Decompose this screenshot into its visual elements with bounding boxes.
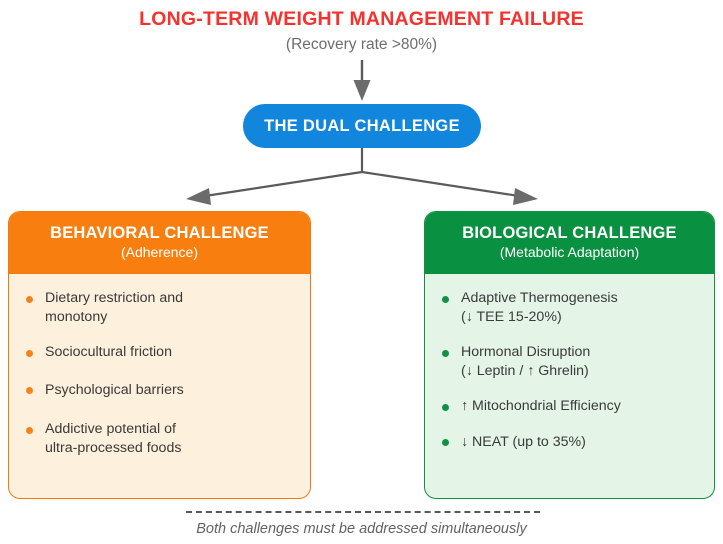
arrow-down-icon bbox=[354, 60, 371, 101]
arrow-branch-left-icon bbox=[186, 172, 362, 205]
behavioral-bullet-list: Dietary restriction and monotony Sociocu… bbox=[23, 290, 296, 457]
list-item: Adaptive Thermogenesis (↓ TEE 15-20%) bbox=[439, 290, 700, 326]
list-item: Hormonal Disruption (↓ Leptin / ↑ Ghreli… bbox=[439, 344, 700, 380]
page-subtitle: (Recovery rate >80%) bbox=[0, 36, 723, 54]
behavioral-card-subtitle: (Adherence) bbox=[121, 243, 198, 262]
list-item-line2: (↓ TEE 15-20%) bbox=[461, 308, 700, 326]
bullet-dot-icon bbox=[26, 427, 33, 434]
bullet-dot-icon bbox=[26, 296, 33, 303]
biological-card-body: Adaptive Thermogenesis (↓ TEE 15-20%) Ho… bbox=[425, 274, 714, 451]
bullet-dot-icon bbox=[442, 439, 449, 446]
biological-card-subtitle: (Metabolic Adaptation) bbox=[500, 243, 639, 262]
behavioral-card-title: BEHAVIORAL CHALLENGE bbox=[50, 224, 269, 242]
diagram-canvas: LONG-TERM WEIGHT MANAGEMENT FAILURE (Rec… bbox=[0, 0, 723, 544]
biological-card-header: BIOLOGICAL CHALLENGE (Metabolic Adaptati… bbox=[425, 212, 714, 274]
list-item: ↓ NEAT (up to 35%) bbox=[439, 434, 700, 452]
list-item-line1: Hormonal Disruption bbox=[461, 344, 590, 360]
list-item: Dietary restriction and monotony bbox=[23, 290, 296, 326]
bullet-dot-icon bbox=[26, 387, 33, 394]
biological-card-title: BIOLOGICAL CHALLENGE bbox=[462, 224, 677, 242]
list-item: Addictive potential of ultra-processed f… bbox=[23, 421, 296, 457]
list-item: ↑ Mitochondrial Efficiency bbox=[439, 398, 700, 416]
footer-divider bbox=[186, 511, 540, 513]
list-item-line1: Psychological barriers bbox=[45, 382, 184, 398]
list-item-line1: Sociocultural friction bbox=[45, 344, 172, 360]
list-item-line1: Adaptive Thermogenesis bbox=[461, 290, 618, 306]
biological-challenge-card[interactable]: BIOLOGICAL CHALLENGE (Metabolic Adaptati… bbox=[424, 211, 715, 499]
page-title: LONG-TERM WEIGHT MANAGEMENT FAILURE bbox=[0, 8, 723, 31]
list-item-line2: ultra-processed foods bbox=[45, 439, 296, 457]
bullet-dot-icon bbox=[26, 350, 33, 357]
list-item-line1: ↓ NEAT (up to 35%) bbox=[461, 434, 586, 450]
list-item-line1: ↑ Mitochondrial Efficiency bbox=[461, 398, 621, 414]
behavioral-card-header: BEHAVIORAL CHALLENGE (Adherence) bbox=[9, 212, 310, 274]
dual-challenge-node[interactable]: THE DUAL CHALLENGE bbox=[243, 104, 481, 148]
behavioral-card-body: Dietary restriction and monotony Sociocu… bbox=[9, 274, 310, 457]
list-item: Sociocultural friction bbox=[23, 344, 296, 362]
dual-challenge-label: THE DUAL CHALLENGE bbox=[264, 117, 460, 136]
behavioral-challenge-card[interactable]: BEHAVIORAL CHALLENGE (Adherence) Dietary… bbox=[8, 211, 311, 499]
list-item-line2: monotony bbox=[45, 308, 296, 326]
list-item: Psychological barriers bbox=[23, 382, 296, 400]
footer-note: Both challenges must be addressed simult… bbox=[0, 521, 723, 537]
list-item-line1: Addictive potential of bbox=[45, 421, 176, 437]
bullet-dot-icon bbox=[442, 296, 449, 303]
bullet-dot-icon bbox=[442, 350, 449, 357]
arrow-branch-right-icon bbox=[362, 172, 538, 205]
list-item-line1: Dietary restriction and bbox=[45, 290, 183, 306]
bullet-dot-icon bbox=[442, 404, 449, 411]
biological-bullet-list: Adaptive Thermogenesis (↓ TEE 15-20%) Ho… bbox=[439, 290, 700, 451]
list-item-line2: (↓ Leptin / ↑ Ghrelin) bbox=[461, 362, 700, 380]
